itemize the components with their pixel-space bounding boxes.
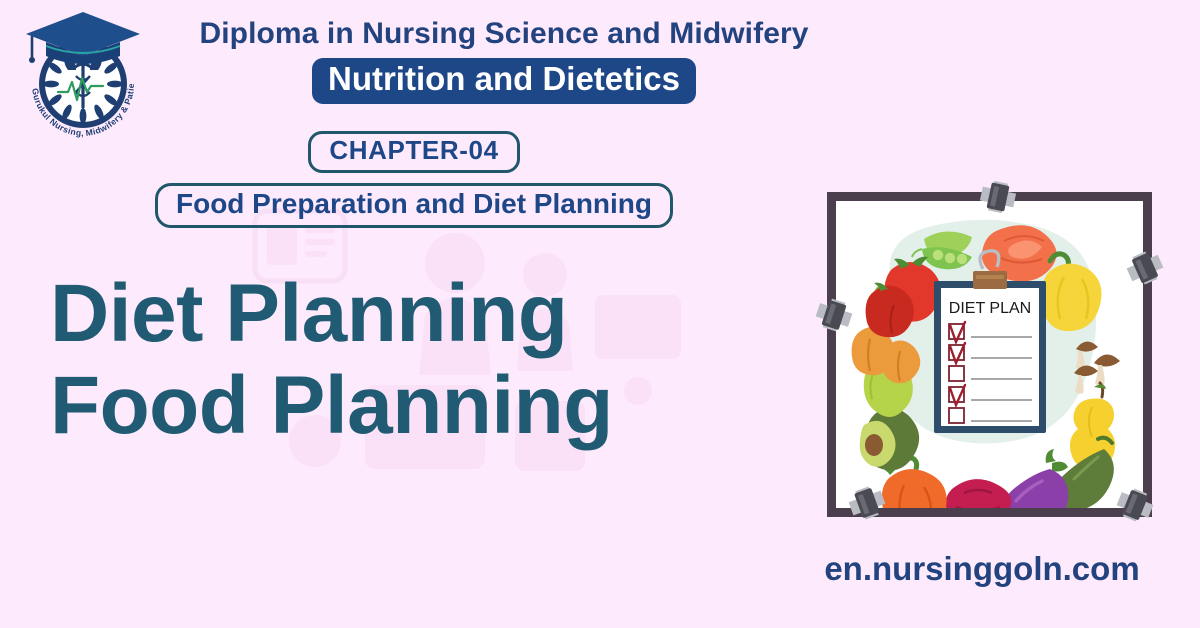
binder-clip-bottom-left: [844, 482, 890, 524]
illustration-canvas: DIET PLAN: [836, 201, 1143, 508]
subject-badge: Nutrition and Dietetics: [312, 58, 696, 104]
chapter-badge-row: CHAPTER-04: [0, 131, 1200, 173]
page-title: Diet Planning Food Planning: [50, 268, 613, 452]
eggplant-icon: [1004, 449, 1068, 508]
clipboard-heading: DIET PLAN: [949, 300, 1031, 317]
binder-clip-bottom-right: [1112, 484, 1158, 526]
program-title: Diploma in Nursing Science and Midwifery: [199, 18, 808, 50]
page-title-line-2: Food Planning: [50, 360, 613, 452]
diet-plan-illustration: DIET PLAN: [827, 192, 1152, 517]
binder-clip-right: [1122, 247, 1168, 289]
program-title-row: Diploma in Nursing Science and Midwifery: [0, 18, 1200, 50]
beetroot-icon: [946, 479, 1012, 508]
chapter-number-badge: CHAPTER-04: [308, 131, 519, 173]
binder-clip-left: [811, 294, 857, 336]
binder-clip-top: [975, 176, 1021, 218]
subject-badge-row: Nutrition and Dietetics: [0, 58, 1200, 104]
website-url[interactable]: en.nursinggoln.com: [812, 550, 1152, 588]
page-title-line-1: Diet Planning: [50, 268, 613, 360]
chapter-title-badge: Food Preparation and Diet Planning: [155, 183, 673, 228]
avocado-icon: [860, 408, 919, 471]
